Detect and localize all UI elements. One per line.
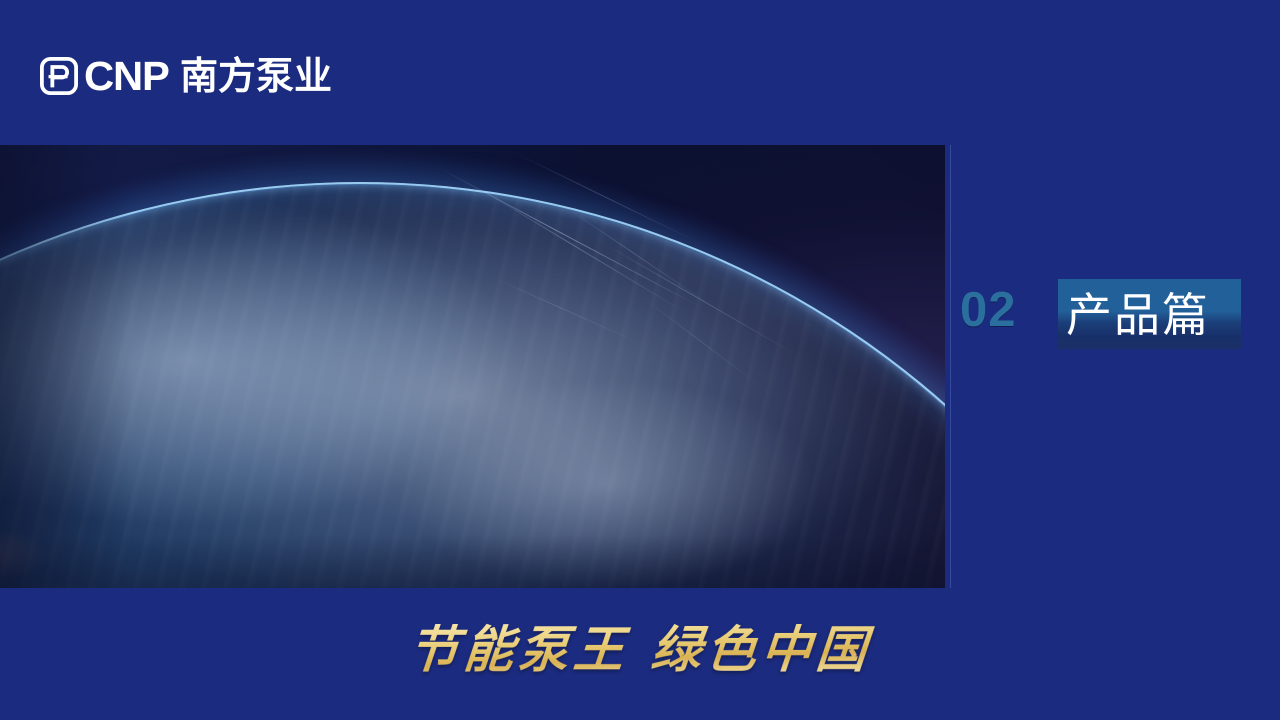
logo-chinese-text: 南方泵业: [180, 57, 332, 95]
section-title: 产品篇: [1066, 278, 1246, 352]
company-slogan: 节能泵王 绿色中国: [0, 622, 1280, 677]
light-streaks: [430, 145, 945, 445]
slide-footer: 节能泵王 绿色中国: [0, 588, 1280, 720]
earth-hero-image: [0, 145, 945, 588]
presentation-slide: CNP 南方泵业: [0, 0, 1280, 720]
section-label-column: 02 产品篇: [945, 145, 1280, 588]
column-divider: [950, 145, 951, 588]
logo-latin-text: CNP: [84, 56, 169, 97]
cnp-monogram-icon: [40, 57, 78, 95]
section-number: 02: [960, 286, 1017, 335]
slide-header: CNP 南方泵业: [0, 0, 1280, 145]
company-logo: CNP 南方泵业: [40, 52, 332, 100]
